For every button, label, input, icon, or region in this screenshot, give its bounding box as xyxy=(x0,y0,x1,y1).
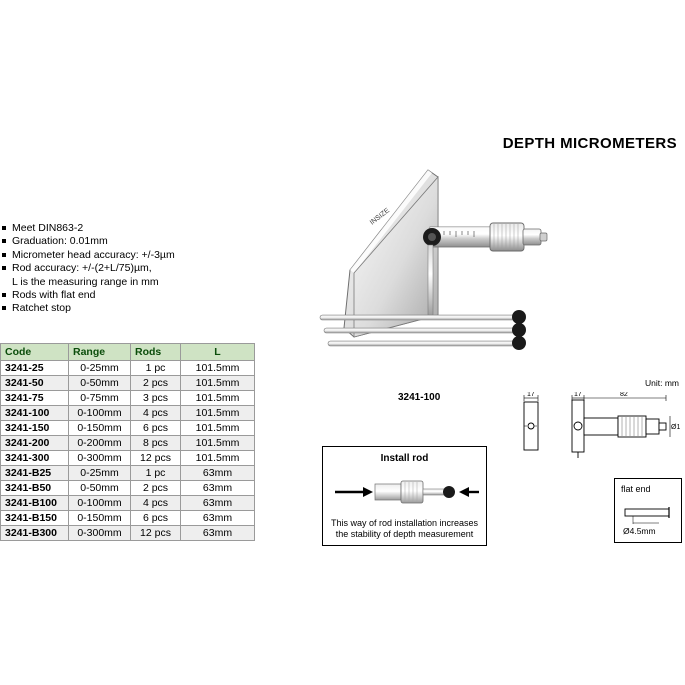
dim-spindle-dia: Ø18 xyxy=(671,424,680,431)
cell-range: 0-100mm xyxy=(69,406,131,421)
table-row: 3241-200 0-200mm 8 pcs 101.5mm xyxy=(1,436,255,451)
cell-length: 63mm xyxy=(181,481,255,496)
product-photo: INSIZE xyxy=(310,165,560,365)
specification-table: Code Range Rods L 3241-25 0-25mm 1 pc 10… xyxy=(0,343,255,541)
cell-range: 0-50mm xyxy=(69,481,131,496)
cell-rods: 2 pcs xyxy=(131,481,181,496)
cell-range: 0-50mm xyxy=(69,376,131,391)
bullet-icon xyxy=(2,293,6,297)
dim-head-length: 82 xyxy=(620,392,628,398)
table-row: 3241-150 0-150mm 6 pcs 101.5mm xyxy=(1,421,255,436)
cell-length: 101.5mm xyxy=(181,361,255,376)
cell-length: 101.5mm xyxy=(181,391,255,406)
cell-rods: 12 pcs xyxy=(131,451,181,466)
table-header: Code Range Rods L xyxy=(1,344,255,361)
feature-text: Rods with flat end xyxy=(12,289,95,301)
table-row: 3241-300 0-300mm 12 pcs 101.5mm xyxy=(1,451,255,466)
cell-range: 0-200mm xyxy=(69,436,131,451)
cell-code: 3241-75 xyxy=(1,391,69,406)
column-header-rods: Rods xyxy=(131,344,181,361)
bullet-icon xyxy=(2,306,6,310)
cell-length: 63mm xyxy=(181,496,255,511)
cell-rods: 6 pcs xyxy=(131,511,181,526)
install-rod-diagram xyxy=(323,467,484,517)
feature-text: Micrometer head accuracy: +/-3µm xyxy=(12,249,175,261)
dimension-drawing-svg: 17 17 82 Ø18 xyxy=(520,392,680,462)
cell-rods: 4 pcs xyxy=(131,406,181,421)
cell-range: 0-300mm xyxy=(69,526,131,541)
cell-code: 3241-100 xyxy=(1,406,69,421)
cell-code: 3241-50 xyxy=(1,376,69,391)
feature-item: Rods with flat end xyxy=(2,289,237,302)
cell-length: 63mm xyxy=(181,526,255,541)
cell-range: 0-25mm xyxy=(69,466,131,481)
bullet-icon xyxy=(2,266,6,270)
column-header-code: Code xyxy=(1,344,69,361)
cell-code: 3241-B50 xyxy=(1,481,69,496)
feature-item: Ratchet stop xyxy=(2,302,237,315)
cell-range: 0-150mm xyxy=(69,511,131,526)
cell-range: 0-100mm xyxy=(69,496,131,511)
bullet-icon xyxy=(2,239,6,243)
table-row: 3241-B100 0-100mm 4 pcs 63mm xyxy=(1,496,255,511)
table-row: 3241-25 0-25mm 1 pc 101.5mm xyxy=(1,361,255,376)
feature-item: Micrometer head accuracy: +/-3µm xyxy=(2,249,237,262)
install-rod-callout: Install rod This way of rod installation… xyxy=(322,446,487,546)
table-header-row: Code Range Rods L xyxy=(1,344,255,361)
column-header-length: L xyxy=(181,344,255,361)
cell-rods: 2 pcs xyxy=(131,376,181,391)
cell-rods: 1 pc xyxy=(131,361,181,376)
table-row: 3241-100 0-100mm 4 pcs 101.5mm xyxy=(1,406,255,421)
feature-list: Meet DIN863-2 Graduation: 0.01mm Microme… xyxy=(2,222,237,316)
install-note-line2: the stability of depth measurement xyxy=(336,529,474,539)
table-body: 3241-25 0-25mm 1 pc 101.5mm 3241-50 0-50… xyxy=(1,361,255,541)
cell-code: 3241-B150 xyxy=(1,511,69,526)
flat-end-diagram xyxy=(619,499,683,527)
photo-caption: 3241-100 xyxy=(398,392,440,403)
dim-left-width: 17 xyxy=(527,392,535,398)
bullet-icon xyxy=(2,226,6,230)
feature-item: Rod accuracy: +/-(2+L/75)µm, xyxy=(2,262,237,275)
bullet-icon xyxy=(2,253,6,257)
cell-length: 101.5mm xyxy=(181,421,255,436)
cell-rods: 3 pcs xyxy=(131,391,181,406)
feature-text: Ratchet stop xyxy=(12,302,71,314)
table-row: 3241-50 0-50mm 2 pcs 101.5mm xyxy=(1,376,255,391)
install-note-line1: This way of rod installation increases xyxy=(331,518,478,528)
cell-length: 101.5mm xyxy=(181,406,255,421)
cell-code: 3241-B300 xyxy=(1,526,69,541)
cell-rods: 1 pc xyxy=(131,466,181,481)
cell-length: 63mm xyxy=(181,466,255,481)
feature-item: Graduation: 0.01mm xyxy=(2,235,237,248)
table-row: 3241-B300 0-300mm 12 pcs 63mm xyxy=(1,526,255,541)
cell-code: 3241-150 xyxy=(1,421,69,436)
feature-text: Graduation: 0.01mm xyxy=(12,235,108,247)
cell-code: 3241-B25 xyxy=(1,466,69,481)
cell-range: 0-300mm xyxy=(69,451,131,466)
depth-micrometer-illustration: INSIZE xyxy=(310,165,560,365)
feature-text: L is the measuring range in mm xyxy=(12,276,159,288)
table-row: 3241-75 0-75mm 3 pcs 101.5mm xyxy=(1,391,255,406)
cell-code: 3241-200 xyxy=(1,436,69,451)
cell-range: 0-25mm xyxy=(69,361,131,376)
cell-code: 3241-B100 xyxy=(1,496,69,511)
page-title: DEPTH MICROMETERS xyxy=(503,135,677,152)
cell-rods: 6 pcs xyxy=(131,421,181,436)
flat-end-dimension: Ø4.5mm xyxy=(623,526,656,536)
table-row: 3241-B25 0-25mm 1 pc 63mm xyxy=(1,466,255,481)
table-row: 3241-B50 0-50mm 2 pcs 63mm xyxy=(1,481,255,496)
feature-text: Meet DIN863-2 xyxy=(12,222,83,234)
flat-end-callout: flat end Ø4.5mm xyxy=(614,478,682,543)
flat-end-title: flat end xyxy=(621,484,651,494)
cell-length: 101.5mm xyxy=(181,451,255,466)
install-rod-note: This way of rod installation increases t… xyxy=(327,518,482,540)
dimension-drawing: 17 17 82 Ø18 xyxy=(520,392,680,462)
cell-code: 3241-300 xyxy=(1,451,69,466)
cell-length: 101.5mm xyxy=(181,436,255,451)
feature-item: Meet DIN863-2 xyxy=(2,222,237,235)
unit-label: Unit: mm xyxy=(645,378,679,388)
dim-body-width: 17 xyxy=(574,392,582,398)
cell-rods: 12 pcs xyxy=(131,526,181,541)
cell-rods: 4 pcs xyxy=(131,496,181,511)
cell-range: 0-150mm xyxy=(69,421,131,436)
feature-item-continuation: L is the measuring range in mm xyxy=(2,276,237,289)
cell-length: 63mm xyxy=(181,511,255,526)
column-header-range: Range xyxy=(69,344,131,361)
cell-range: 0-75mm xyxy=(69,391,131,406)
install-rod-title: Install rod xyxy=(323,453,486,464)
cell-code: 3241-25 xyxy=(1,361,69,376)
cell-length: 101.5mm xyxy=(181,376,255,391)
table-row: 3241-B150 0-150mm 6 pcs 63mm xyxy=(1,511,255,526)
cell-rods: 8 pcs xyxy=(131,436,181,451)
feature-text: Rod accuracy: +/-(2+L/75)µm, xyxy=(12,262,152,274)
